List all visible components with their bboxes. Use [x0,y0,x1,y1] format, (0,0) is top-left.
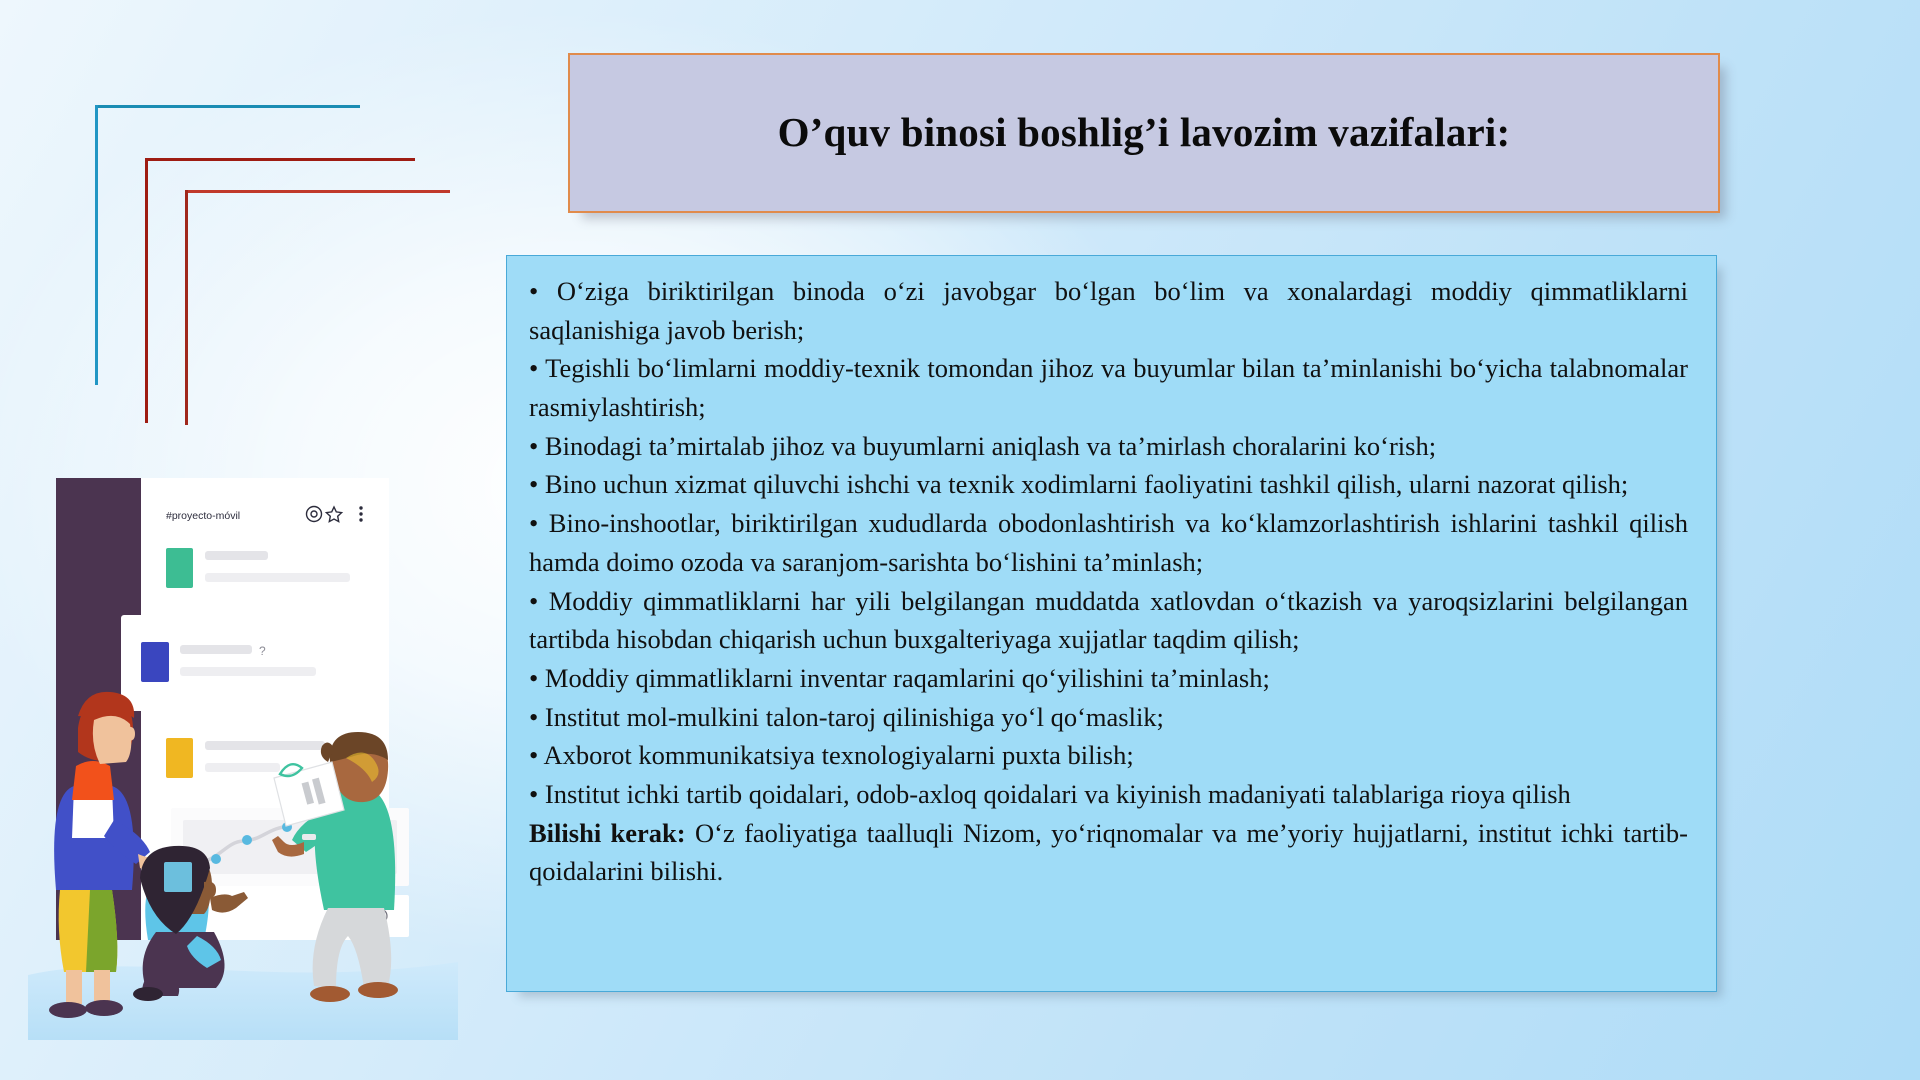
kebab-menu-icon [359,506,362,521]
page-title: O’quv binosi boshlig’i lavozim vazifalar… [778,109,1511,156]
chart-point [211,854,221,864]
footer-note-text: O‘z faoliyatiga taalluqli Nizom, yo‘riqn… [529,818,1688,887]
illustration-svg: #proyecto-móvil ? [28,470,458,1040]
bracket-light-red [185,190,450,425]
duties-list: • O‘ziga biriktirilgan binoda o‘zi javob… [529,272,1688,891]
bracket-teal-horizontal [95,105,360,108]
row-tile-green [166,548,193,588]
list-item: • O‘ziga biriktirilgan binoda o‘zi javob… [529,272,1688,349]
question-mark-glyph: ? [259,644,266,658]
card-bar [180,645,252,654]
row-bar [205,573,350,582]
list-item: • Moddiy qimmatliklarni inventar raqamla… [529,659,1688,698]
row-bar [205,763,280,772]
bracket-teal-vertical [95,105,98,385]
card-tile-blue [141,642,169,682]
list-item: • Binodagi ta’mirtalab jihoz va buyumlar… [529,427,1688,466]
footer-note: Bilishi kerak: O‘z faoliyatiga taalluqli… [529,814,1688,891]
row-tile-yellow [166,738,193,778]
decorative-corner-brackets [0,0,520,470]
bracket-dark-red-vertical [145,158,148,423]
list-item: • Institut ichki tartib qoidalari, odob-… [529,775,1688,814]
footer-note-lead: Bilishi kerak: [529,818,686,848]
list-item: • Bino-inshootlar, biriktirilgan xududla… [529,504,1688,581]
bracket-dark-red-horizontal [145,158,415,161]
bracket-light-red-horizontal [185,190,450,193]
list-item: • Tegishli bo‘limlarni moddiy-texnik tom… [529,349,1688,426]
teamwork-illustration: #proyecto-móvil ? [28,470,458,1040]
list-item: • Moddiy qimmatliklarni har yili belgila… [529,582,1688,659]
row-bar [205,741,325,750]
bracket-light-red-vertical [185,190,188,425]
card-bar [180,667,316,676]
board-tag-label: #proyecto-móvil [166,510,240,522]
slide-title-panel: O’quv binosi boshlig’i lavozim vazifalar… [568,53,1720,213]
slide-content-panel: • O‘ziga biriktirilgan binoda o‘zi javob… [506,255,1717,992]
list-item: • Axborot kommunikatsiya texnologiyalarn… [529,736,1688,775]
floor-shape [28,962,458,1040]
row-bar [205,551,268,560]
list-item: • Bino uchun xizmat qiluvchi ishchi va t… [529,465,1688,504]
chart-point [242,835,252,845]
list-item: • Institut mol-mulkini talon-taroj qilin… [529,698,1688,737]
